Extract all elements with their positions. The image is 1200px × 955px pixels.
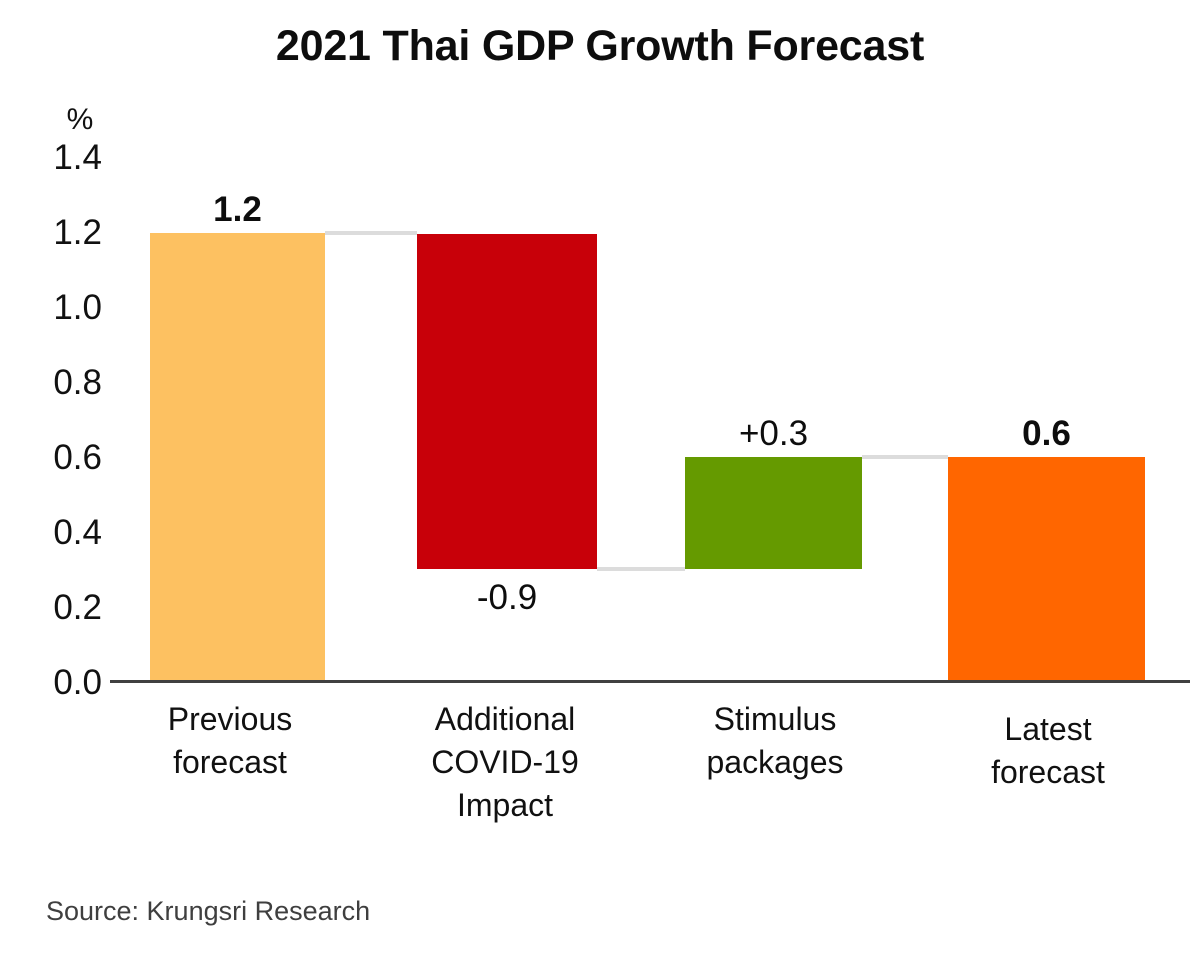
y-axis-unit-label: %	[40, 103, 120, 137]
x-axis-label-stimulus-packages: Stimulus packages	[662, 698, 888, 784]
y-axis-tick-0-0: 0.0	[10, 665, 102, 700]
data-label-stimulus-packages: +0.3	[685, 416, 862, 451]
y-axis-tick-1-2: 1.2	[10, 215, 102, 250]
y-axis-tick-0-2: 0.2	[10, 590, 102, 625]
x-axis-label-line-1: Stimulus	[662, 698, 888, 741]
y-axis-tick-1-4: 1.4	[10, 140, 102, 175]
connector-line-1	[325, 231, 417, 235]
y-axis-tick-0-6: 0.6	[10, 440, 102, 475]
x-axis-label-line-3: Impact	[390, 784, 620, 827]
connector-line-2	[597, 567, 685, 571]
x-axis-label-line-1: Previous	[120, 698, 340, 741]
bar-stimulus-packages[interactable]	[685, 457, 862, 569]
x-axis-label-previous-forecast: Previous forecast	[120, 698, 340, 784]
y-axis-tick-0-4: 0.4	[10, 515, 102, 550]
chart-title: 2021 Thai GDP Growth Forecast	[0, 22, 1200, 71]
bar-previous-forecast[interactable]	[150, 233, 325, 681]
y-axis-tick-0-8: 0.8	[10, 365, 102, 400]
y-axis-tick-1-0: 1.0	[10, 290, 102, 325]
x-axis-baseline	[110, 680, 1190, 683]
bar-latest-forecast[interactable]	[948, 457, 1145, 681]
connector-line-3	[862, 455, 948, 459]
x-axis-label-line-1: Latest	[935, 708, 1161, 751]
x-axis-label-line-1: Additional	[390, 698, 620, 741]
data-label-previous-forecast: 1.2	[150, 192, 325, 227]
data-label-additional-covid-19-impact: -0.9	[417, 580, 597, 615]
plot-area: 1.2 -0.9 +0.3 0.6	[110, 140, 1190, 685]
source-note: Source: Krungsri Research	[46, 896, 370, 927]
x-axis-label-line-2: packages	[662, 741, 888, 784]
bar-additional-covid-19-impact[interactable]	[417, 234, 597, 569]
x-axis-label-line-2: forecast	[120, 741, 340, 784]
chart-container: 2021 Thai GDP Growth Forecast % 1.4 1.2 …	[0, 0, 1200, 955]
x-axis-label-additional-covid-19-impact: Additional COVID-19 Impact	[390, 698, 620, 828]
x-axis-label-line-2: COVID-19	[390, 741, 620, 784]
x-axis-label-line-2: forecast	[935, 751, 1161, 794]
x-axis-label-latest-forecast: Latest forecast	[935, 708, 1161, 794]
data-label-latest-forecast: 0.6	[948, 416, 1145, 451]
